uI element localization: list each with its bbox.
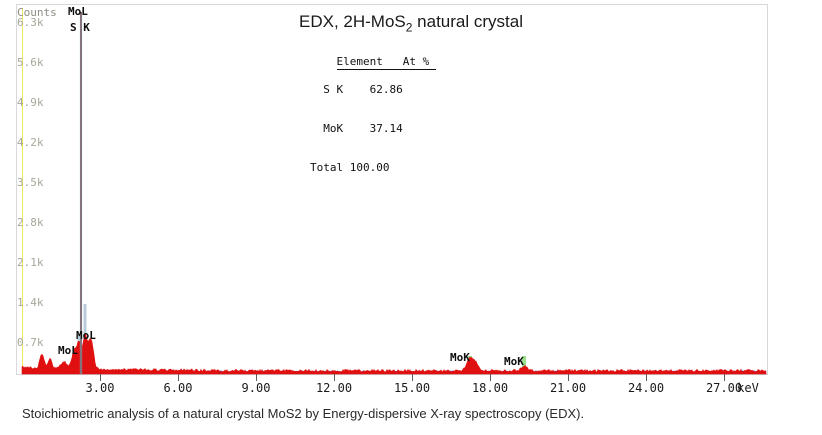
peak-label-mol-top: MoL bbox=[68, 5, 88, 18]
x-tick-label: 24.00 bbox=[628, 381, 664, 395]
x-tick-mark bbox=[178, 374, 179, 381]
figure-caption: Stoichiometric analysis of a natural cry… bbox=[22, 406, 584, 421]
x-tick-mark bbox=[334, 374, 335, 381]
peak-label-mol-low: MoL bbox=[58, 344, 78, 357]
peak-label-sk: S K bbox=[70, 21, 90, 34]
x-tick-label: 21.00 bbox=[550, 381, 586, 395]
x-tick-mark bbox=[646, 374, 647, 381]
spectrum-fill-path bbox=[22, 333, 766, 374]
x-tick-mark bbox=[412, 374, 413, 381]
spectrum-trace bbox=[16, 4, 768, 375]
x-axis-unit-label: keV bbox=[737, 381, 759, 395]
x-tick-mark bbox=[256, 374, 257, 381]
peak-label-mok-secondary: MoK bbox=[504, 355, 524, 368]
edx-spectrum-figure: Counts 6.3k 5.6k 4.9k 4.2k 3.5k 2.8k 2.1… bbox=[0, 0, 822, 398]
x-tick-mark bbox=[724, 374, 725, 381]
x-tick-mark bbox=[568, 374, 569, 381]
x-tick-mark bbox=[100, 374, 101, 381]
x-tick-label: 12.00 bbox=[316, 381, 352, 395]
x-tick-label: 3.00 bbox=[86, 381, 115, 395]
x-tick-label: 18.00 bbox=[472, 381, 508, 395]
x-tick-label: 15.00 bbox=[394, 381, 430, 395]
peak-label-mok-primary: MoK bbox=[450, 351, 470, 364]
peak-label-mol-mid: MoL bbox=[76, 329, 96, 342]
x-tick-label: 6.00 bbox=[164, 381, 193, 395]
x-tick-mark bbox=[490, 374, 491, 381]
x-tick-label: 9.00 bbox=[242, 381, 271, 395]
